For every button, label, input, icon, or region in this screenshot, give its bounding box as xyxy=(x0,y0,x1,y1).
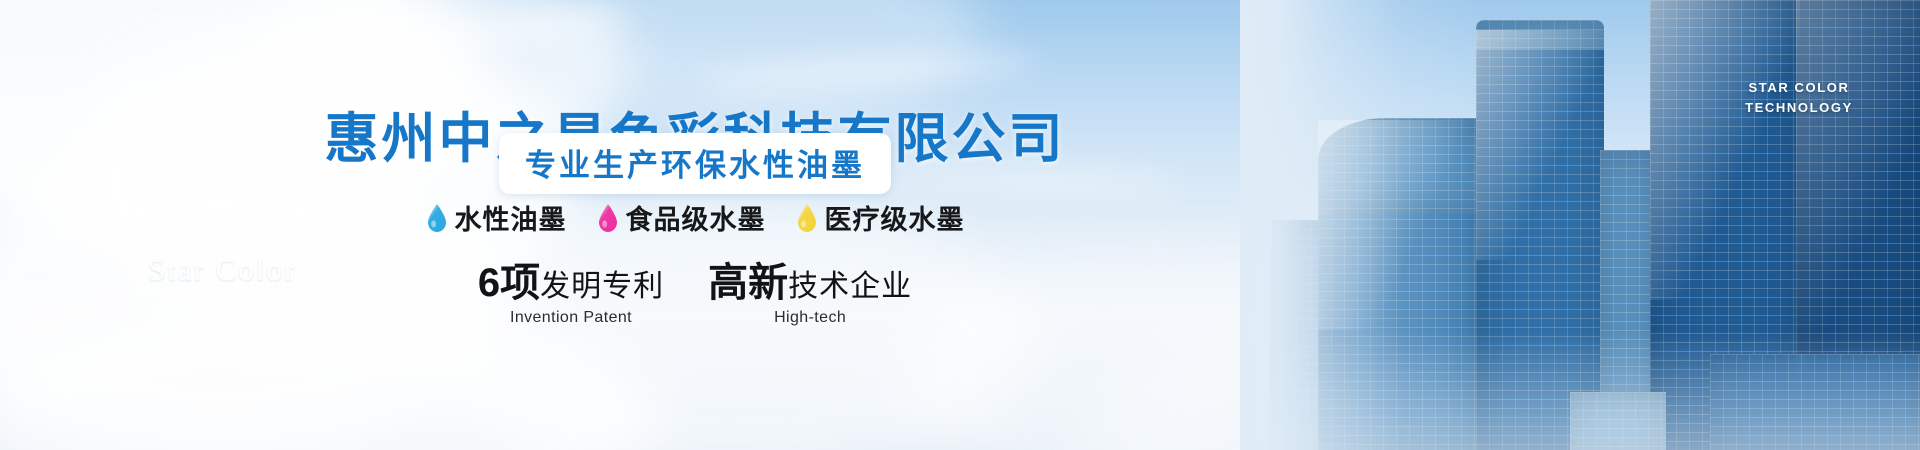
credential-item: 6项发明专利 Invention Patent xyxy=(478,262,664,327)
ink-type-item: 医疗级水墨 xyxy=(796,198,965,237)
brand-overlay-line-2: TECHNOLOGY xyxy=(1734,98,1864,118)
credentials-list: 6项发明专利 Invention Patent 高新技术企业 High-tech xyxy=(0,262,1390,327)
building-shape xyxy=(1570,392,1666,450)
credential-strong: 高新 xyxy=(708,261,788,305)
credential-item: 高新技术企业 High-tech xyxy=(708,262,912,327)
star-color-technology-overlay: STAR COLOR TECHNOLOGY xyxy=(1734,78,1864,118)
tagline-badge-row: 专业生产环保水性油墨 xyxy=(0,133,1390,194)
credential-strong: 6项 xyxy=(478,261,540,305)
ink-type-label: 医疗级水墨 xyxy=(825,198,965,237)
building-shape xyxy=(1476,30,1604,450)
ink-type-item: 食品级水墨 xyxy=(597,198,766,237)
ink-type-label: 水性油墨 xyxy=(455,198,567,237)
credential-subtitle: High-tech xyxy=(708,309,912,327)
credential-rest: 发明专利 xyxy=(540,270,664,303)
ink-type-item: 水性油墨 xyxy=(426,198,567,237)
water-drop-icon xyxy=(426,203,448,233)
ink-type-label: 食品级水墨 xyxy=(626,198,766,237)
building-shape xyxy=(1710,354,1920,450)
building-shape xyxy=(1476,20,1604,50)
company-hero-banner: Star Color STAR COLOR TECHNOLOGY 惠州中之星色彩… xyxy=(0,0,1920,450)
water-drop-icon xyxy=(796,203,818,233)
credential-rest: 技术企业 xyxy=(788,270,912,303)
ink-type-list: 水性油墨 食品级水墨 医疗级水墨 xyxy=(0,198,1390,237)
credential-subtitle: Invention Patent xyxy=(478,309,664,327)
tagline-badge: 专业生产环保水性油墨 xyxy=(499,133,891,194)
credential-main: 高新技术企业 xyxy=(708,262,912,304)
credential-main: 6项发明专利 xyxy=(478,262,664,304)
water-drop-icon xyxy=(597,203,619,233)
banner-content: 惠州中之星色彩科技有限公司 专业生产环保水性油墨 水性油墨 xyxy=(0,0,1390,450)
brand-overlay-line-1: STAR COLOR xyxy=(1734,78,1864,98)
